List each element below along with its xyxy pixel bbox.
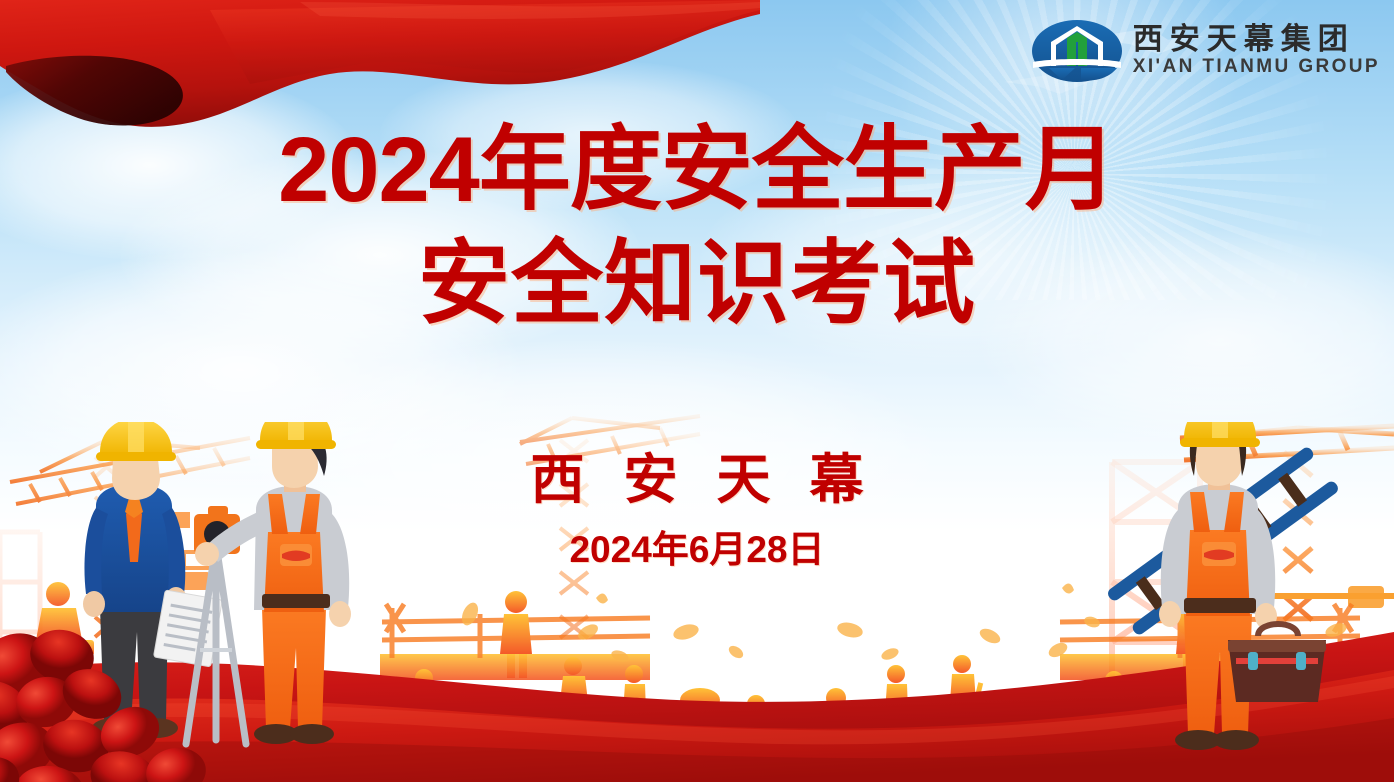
subtitle-block: 西 安 天 幕 2024年6月28日 <box>0 452 1394 573</box>
presentation-slide: 2024年度安全生产月 安全知识考试 西 安 天 幕 2024年6月28日 <box>0 0 1394 782</box>
page-title-line-1: 2024年度安全生产月 <box>0 124 1394 216</box>
presentation-date: 2024年6月28日 <box>0 519 1394 573</box>
logo-english-name: XI'AN TIANMU GROUP <box>1133 57 1380 78</box>
logo-wordmark: 西安天幕集团 XI'AN TIANMU GROUP <box>1133 24 1380 77</box>
company-logo: 西安天幕集团 XI'AN TIANMU GROUP <box>1031 18 1380 84</box>
xian-tianmu-group-emblem-icon <box>1031 18 1123 84</box>
organization-name: 西 安 天 幕 <box>0 452 1394 509</box>
red-peony-flower-decoration <box>0 622 210 782</box>
page-title-line-2: 安全知识考试 <box>0 238 1394 330</box>
logo-chinese-name: 西安天幕集团 <box>1133 24 1380 56</box>
title-block: 2024年度安全生产月 安全知识考试 <box>0 124 1394 330</box>
